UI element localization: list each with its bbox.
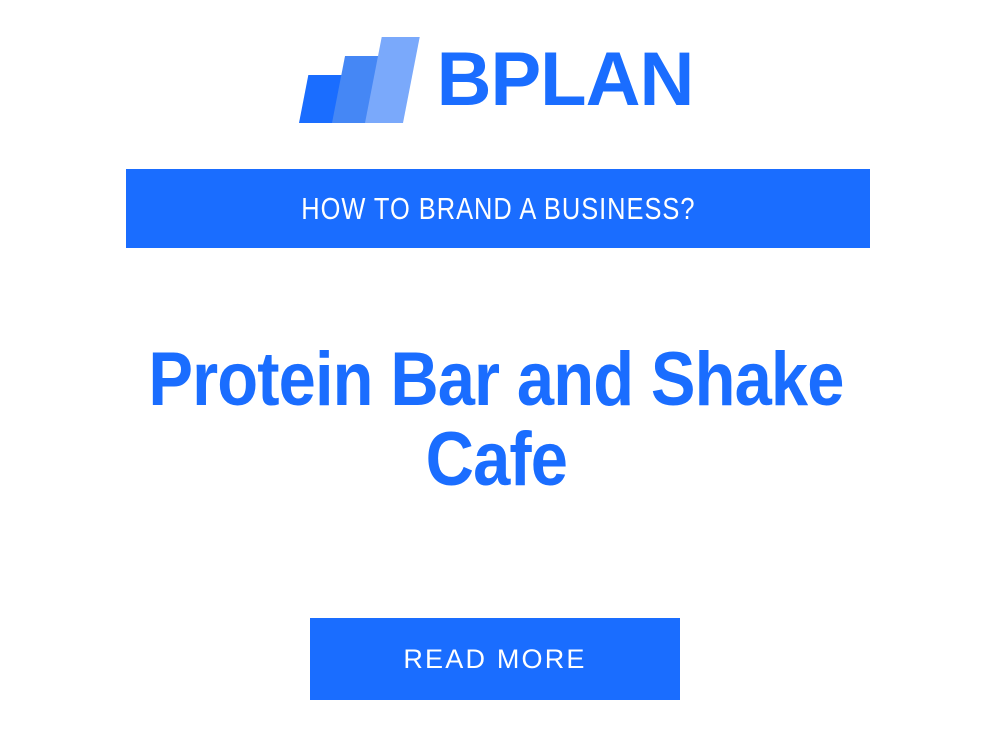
page-title-line-1: Protein Bar and Shake xyxy=(148,340,843,420)
read-more-button[interactable]: READ MORE xyxy=(310,618,680,700)
read-more-button-label: READ MORE xyxy=(403,644,586,675)
logo-bar-large xyxy=(365,37,420,123)
question-banner: HOW TO BRAND A BUSINESS? xyxy=(126,169,870,248)
brand-header: BPLAN xyxy=(0,30,992,130)
page-title-line-2: Cafe xyxy=(425,420,566,500)
question-banner-text: HOW TO BRAND A BUSINESS? xyxy=(301,191,695,227)
brand-wordmark: BPLAN xyxy=(437,42,694,118)
bar-chart-logo-icon xyxy=(299,37,411,123)
promo-card: BPLAN HOW TO BRAND A BUSINESS? Protein B… xyxy=(0,0,992,744)
page-title: Protein Bar and Shake Cafe xyxy=(96,340,896,500)
